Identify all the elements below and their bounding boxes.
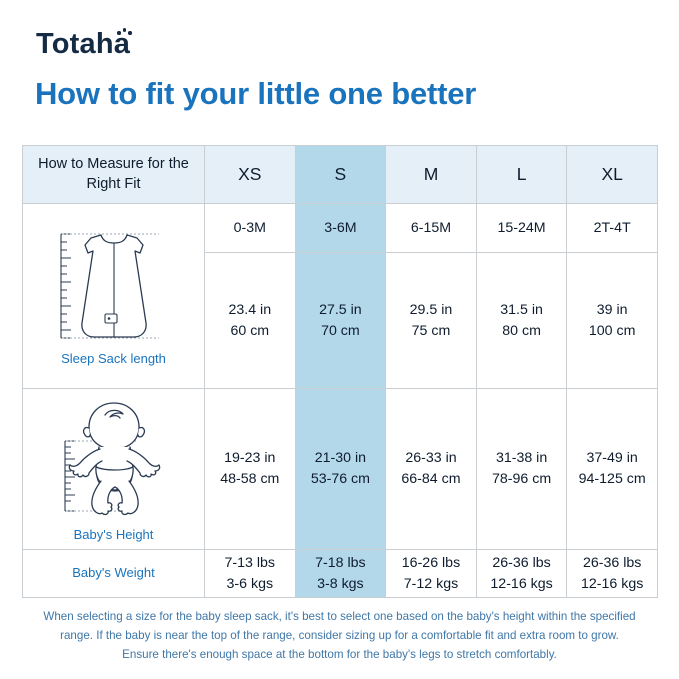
age-value-m: 6-15M bbox=[386, 204, 477, 253]
height-in-xs: 19-23 in bbox=[205, 448, 295, 469]
page-title: How to fit your little one better bbox=[35, 76, 476, 112]
height-cm-l: 78-96 cm bbox=[477, 469, 567, 490]
length-cm-l: 80 cm bbox=[477, 321, 567, 342]
size-header-xl[interactable]: XL bbox=[567, 146, 658, 204]
age-value-s: 3-6M bbox=[295, 204, 386, 253]
age-value-xl: 2T-4T bbox=[567, 204, 658, 253]
weight-value-s: 7-18 lbs 3-8 kgs bbox=[295, 550, 386, 598]
height-cm-m: 66-84 cm bbox=[386, 469, 476, 490]
weight-lbs-xl: 26-36 lbs bbox=[567, 553, 657, 574]
weight-kgs-xs: 3-6 kgs bbox=[205, 574, 295, 595]
length-value-xs: 23.4 in 60 cm bbox=[205, 253, 296, 389]
age-value-l: 15-24M bbox=[476, 204, 567, 253]
sleep-sack-illustration: Sleep Sack length bbox=[23, 204, 204, 388]
weight-lbs-m: 16-26 lbs bbox=[386, 553, 476, 574]
baby-illustration: Baby's Height bbox=[23, 389, 204, 549]
length-in-l: 31.5 in bbox=[477, 300, 567, 321]
size-chart-container: How to Measure for the Right Fit XS S M … bbox=[22, 145, 657, 592]
height-value-s: 21-30 in 53-76 cm bbox=[295, 389, 386, 550]
table-row-age: Sleep Sack length 0-3M 3-6M 6-15M 15-24M… bbox=[23, 204, 658, 253]
length-in-xs: 23.4 in bbox=[205, 300, 295, 321]
table-header-row: How to Measure for the Right Fit XS S M … bbox=[23, 146, 658, 204]
length-in-s: 27.5 in bbox=[296, 300, 386, 321]
brand-logo: Totaha bbox=[36, 30, 130, 59]
weight-lbs-xs: 7-13 lbs bbox=[205, 553, 295, 574]
size-chart-table: How to Measure for the Right Fit XS S M … bbox=[22, 145, 658, 598]
weight-kgs-l: 12-16 kgs bbox=[477, 574, 567, 595]
size-header-xs[interactable]: XS bbox=[205, 146, 296, 204]
footnote: When selecting a size for the baby sleep… bbox=[22, 608, 657, 664]
height-cm-s: 53-76 cm bbox=[296, 469, 386, 490]
length-cm-xs: 60 cm bbox=[205, 321, 295, 342]
corner-label: How to Measure for the Right Fit bbox=[23, 146, 205, 204]
weight-kgs-m: 7-12 kgs bbox=[386, 574, 476, 595]
height-value-m: 26-33 in 66-84 cm bbox=[386, 389, 477, 550]
size-header-l[interactable]: L bbox=[476, 146, 567, 204]
weight-value-m: 16-26 lbs 7-12 kgs bbox=[386, 550, 477, 598]
baby-height-label: Baby's Height bbox=[74, 527, 154, 544]
size-header-s[interactable]: S bbox=[295, 146, 386, 204]
length-cm-m: 75 cm bbox=[386, 321, 476, 342]
height-value-xl: 37-49 in 94-125 cm bbox=[567, 389, 658, 550]
sleep-sack-length-label: Sleep Sack length bbox=[61, 351, 166, 368]
footnote-line-3: Ensure there's enough space at the botto… bbox=[22, 646, 657, 665]
length-value-m: 29.5 in 75 cm bbox=[386, 253, 477, 389]
length-cm-s: 70 cm bbox=[296, 321, 386, 342]
weight-value-xl: 26-36 lbs 12-16 kgs bbox=[567, 550, 658, 598]
table-row-baby-height: Baby's Height 19-23 in 48-58 cm 21-30 in… bbox=[23, 389, 658, 550]
sleep-sack-icon bbox=[39, 225, 189, 347]
footnote-line-2: range. If the baby is near the top of th… bbox=[22, 627, 657, 646]
length-value-xl: 39 in 100 cm bbox=[567, 253, 658, 389]
height-cm-xs: 48-58 cm bbox=[205, 469, 295, 490]
length-value-l: 31.5 in 80 cm bbox=[476, 253, 567, 389]
footnote-line-1: When selecting a size for the baby sleep… bbox=[22, 608, 657, 627]
length-in-m: 29.5 in bbox=[386, 300, 476, 321]
baby-illustration-cell: Baby's Height bbox=[23, 389, 205, 550]
height-value-xs: 19-23 in 48-58 cm bbox=[205, 389, 296, 550]
weight-value-l: 26-36 lbs 12-16 kgs bbox=[476, 550, 567, 598]
table-row-baby-weight: Baby's Weight 7-13 lbs 3-6 kgs 7-18 lbs … bbox=[23, 550, 658, 598]
age-value-xs: 0-3M bbox=[205, 204, 296, 253]
height-in-l: 31-38 in bbox=[477, 448, 567, 469]
baby-weight-label: Baby's Weight bbox=[23, 565, 204, 582]
weight-kgs-s: 3-8 kgs bbox=[296, 574, 386, 595]
weight-lbs-l: 26-36 lbs bbox=[477, 553, 567, 574]
length-in-xl: 39 in bbox=[567, 300, 657, 321]
weight-kgs-xl: 12-16 kgs bbox=[567, 574, 657, 595]
length-value-s: 27.5 in 70 cm bbox=[295, 253, 386, 389]
sleep-sack-illustration-cell: Sleep Sack length bbox=[23, 204, 205, 389]
height-cm-xl: 94-125 cm bbox=[567, 469, 657, 490]
brand-name: Totaha bbox=[36, 28, 130, 60]
baby-weight-label-cell: Baby's Weight bbox=[23, 550, 205, 598]
weight-lbs-s: 7-18 lbs bbox=[296, 553, 386, 574]
weight-value-xs: 7-13 lbs 3-6 kgs bbox=[205, 550, 296, 598]
height-in-m: 26-33 in bbox=[386, 448, 476, 469]
baby-icon bbox=[39, 395, 189, 523]
height-in-s: 21-30 in bbox=[296, 448, 386, 469]
length-cm-xl: 100 cm bbox=[567, 321, 657, 342]
height-value-l: 31-38 in 78-96 cm bbox=[476, 389, 567, 550]
size-header-m[interactable]: M bbox=[386, 146, 477, 204]
height-in-xl: 37-49 in bbox=[567, 448, 657, 469]
